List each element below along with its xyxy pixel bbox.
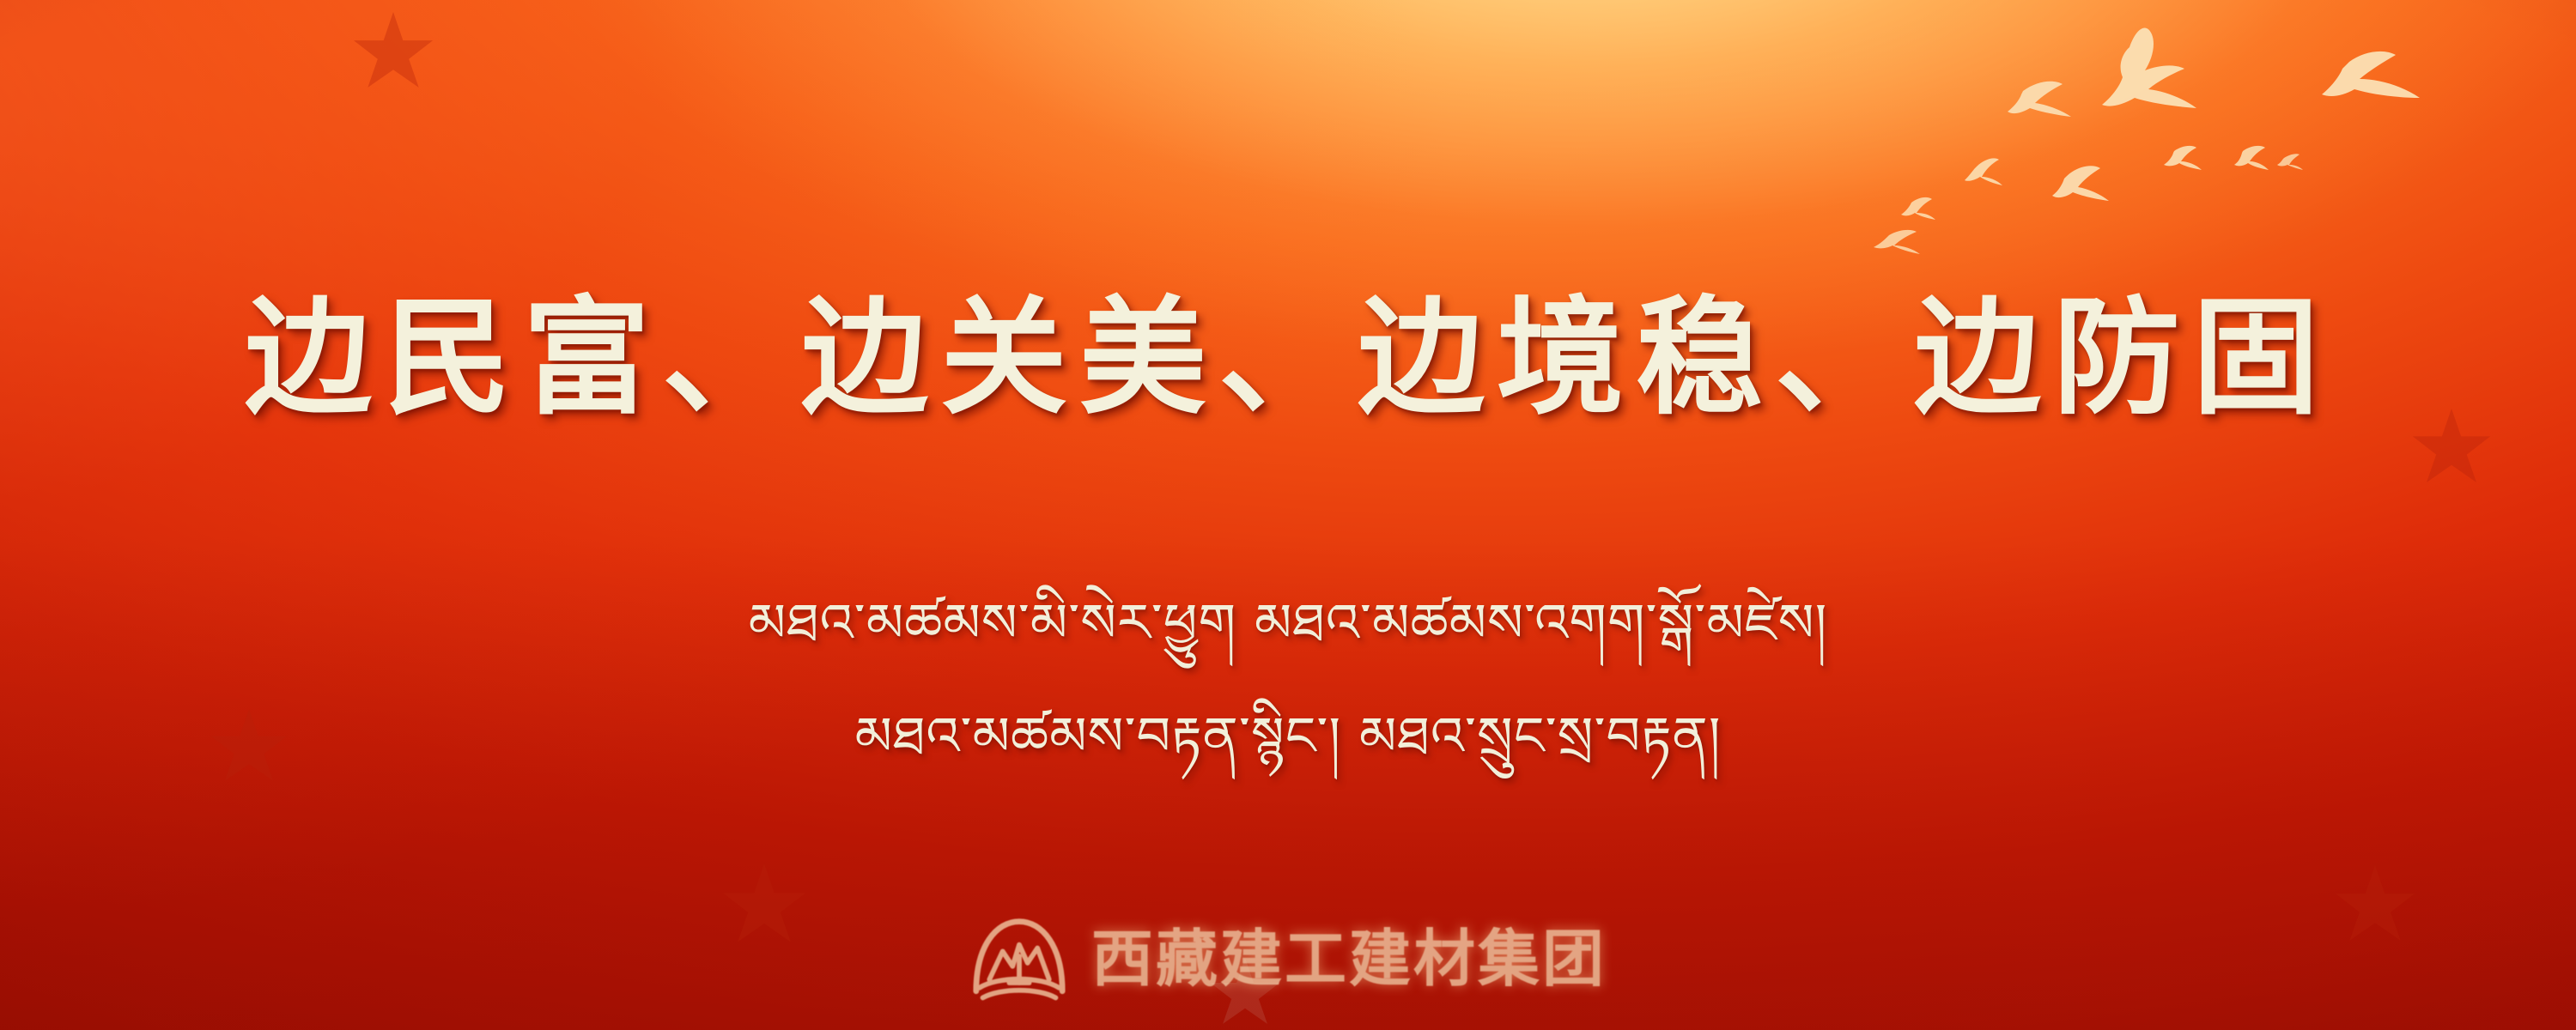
organization-logo: 西藏建工建材集团	[969, 912, 1607, 1008]
logo-wordmark: 西藏建工建材集团	[1091, 929, 1607, 991]
tibetan-line-1: མཐའ་མཚམས་མི་སེར་ཕྱུག མཐའ་མཚམས་འགག་སྒོ་མཛ…	[0, 566, 2576, 680]
page-title: 边民富、边关美、边境稳、边防固	[0, 283, 2576, 436]
tibetan-subtitle: མཐའ་མཚམས་མི་སེར་ཕྱུག མཐའ་མཚམས་འགག་སྒོ་མཛ…	[0, 566, 2576, 793]
promotional-banner: 边民富、边关美、边境稳、边防固 མཐའ་མཚམས་མི་སེར་ཕྱུག མཐའ…	[0, 0, 2576, 1030]
mountain-arch-emblem-icon	[969, 912, 1069, 1008]
flying-birds-flock	[1872, 9, 2576, 292]
tibetan-line-2: མཐའ་མཚམས་བརྟན་སྙིང་། མཐའ་སྲུང་སྲ་བརྟན།	[0, 680, 2576, 793]
